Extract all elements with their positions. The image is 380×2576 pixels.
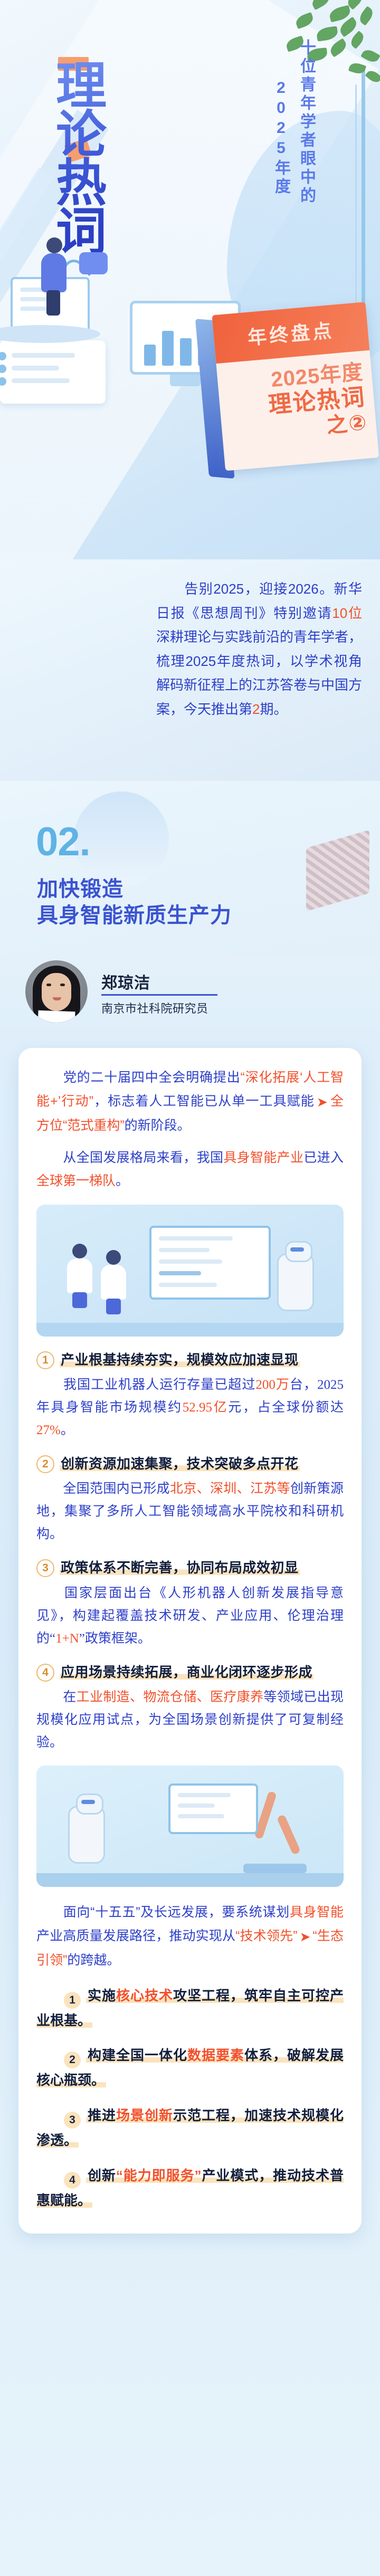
calendar-main: 2025年度 理论热词 之② <box>216 350 377 448</box>
illustration-scene-2 <box>36 1766 344 1887</box>
scene-person-2 <box>99 1250 128 1313</box>
avatar <box>25 960 88 1023</box>
illustration-person <box>37 237 71 317</box>
intro-highlight-2: 2 <box>252 701 260 717</box>
hero-title-char-2: 论 <box>56 111 156 159</box>
item-body-hl-3: 27% <box>36 1423 61 1437</box>
illustration-monitor-stand <box>170 375 201 386</box>
section-title-line-2: 具身智能新质生产力 <box>37 898 232 929</box>
item-body-c: 元，占全球份额达 <box>228 1400 344 1415</box>
item-number: 4 <box>36 1664 54 1682</box>
outlook-hl-2: “技术领先” <box>235 1929 297 1943</box>
body-p2-highlight-2: 全球第一梯队 <box>36 1173 116 1188</box>
item-title: 应用场景持续拓展，商业化闭环逐步形成 <box>60 1664 313 1680</box>
author-block: 郑琼洁 南京市社科院研究员 <box>0 955 380 1034</box>
intro-paragraph: 告别2025，迎接2026。新华日报《思想周刊》特别邀请10位深耕理论与实践前沿… <box>156 577 362 721</box>
list-item: 1 产业根基持续夯实，规模效应加速显现 <box>36 1350 344 1369</box>
hero-vertical-year: 2025年度 <box>269 79 292 196</box>
item-body-hl-1: 北京、深圳、江苏等 <box>170 1482 290 1496</box>
arrow-right-icon: ➤ <box>317 1091 328 1114</box>
intro-section: 告别2025，迎接2026。新华日报《思想周刊》特别邀请10位深耕理论与实践前沿… <box>0 559 380 781</box>
scene-person-1 <box>65 1244 94 1307</box>
item-body-hl-1: 200万 <box>255 1378 290 1392</box>
body-paragraph-1: 党的二十届四中全会明确提出“深化拓展‘人工智能+’行动”，标志着人工智能已从单一… <box>36 1066 344 1138</box>
hero-banner: 理 论 热 词 十位青年学者眼中的 2025年度 <box>0 0 380 559</box>
content-section: 党的二十届四中全会明确提出“深化拓展‘人工智能+’行动”，标志着人工智能已从单一… <box>0 1034 380 2564</box>
scene-robot-1 <box>277 1253 314 1311</box>
item-body-a: 我国工业机器人运行存量已超过 <box>63 1378 255 1392</box>
outlook-hl-1: 具身智能 <box>290 1905 344 1920</box>
list-item: 4 应用场景持续拓展，商业化闭环逐步形成 <box>36 1663 344 1682</box>
illustration-scene-1 <box>36 1205 344 1337</box>
step-item: 4创新“能力即服务”产业模式，推动技术普惠赋能。 <box>36 2164 344 2212</box>
step-text-b: 示范工程，加速技术规模化渗透。 <box>36 2107 344 2148</box>
item-title: 创新资源加速集聚，技术突破多点开花 <box>60 1456 300 1472</box>
content-card: 党的二十届四中全会明确提出“深化拓展‘人工智能+’行动”，标志着人工智能已从单一… <box>18 1048 362 2234</box>
intro-lead: 告别2025，迎接2026。新华日报《思想周刊》特别邀请 <box>156 581 362 621</box>
item-body: 全国范围内已形成北京、深圳、江苏等创新策源地，集聚了多所人工智能领域高水平院校和… <box>36 1477 344 1545</box>
item-body: 国家层面出台《人形机器人创新发展指导意见》，构建起覆盖技术研发、产业应用、伦理治… <box>36 1582 344 1650</box>
step-number: 2 <box>64 2052 81 2068</box>
step-item: 2构建全国一体化数据要素体系，破解发展核心瓶颈。 <box>36 2044 344 2092</box>
step-text-a: 构建全国一体化 <box>87 2047 187 2063</box>
body-p2-c: 。 <box>116 1173 129 1188</box>
item-title: 产业根基持续夯实，规模效应加速显现 <box>60 1352 300 1368</box>
step-text-a: 创新 <box>87 2168 116 2183</box>
item-body-hl-2: 52.95亿 <box>183 1400 229 1415</box>
author-name: 郑琼洁 <box>101 970 150 993</box>
item-body-hl-1: 工业制造、物流仓储、医疗康养 <box>77 1690 264 1704</box>
arrow-right-icon: ➤ <box>299 1925 310 1949</box>
scene-screen <box>149 1226 271 1300</box>
item-body-b: ”政策框架。 <box>79 1632 151 1646</box>
calendar-card: 年终盘点 2025年度 理论热词 之② <box>203 302 379 474</box>
intro-highlight-1: 10位 <box>332 605 362 621</box>
body-p1-c: 的新阶段。 <box>125 1118 191 1133</box>
item-body-d: 。 <box>61 1423 74 1437</box>
body-p1-b: ，标志着人工智能已从单一工具赋能 <box>93 1094 315 1109</box>
body-p1-a: 党的二十届四中全会明确提出 <box>63 1070 241 1085</box>
list-item: 3 政策体系不断完善，协同布局成效初显 <box>36 1558 344 1577</box>
step-text-b: 攻坚工程，筑牢自主可控产业根基。 <box>36 1988 344 2028</box>
outlook-paragraph: 面向“十五五”及长远发展，要系统谋划具身智能产业高质量发展路径，推动实现从“技术… <box>36 1901 344 1972</box>
outlook-a: 面向“十五五”及长远发展，要系统谋划 <box>63 1905 290 1920</box>
author-role: 南京市社科院研究员 <box>101 999 208 1016</box>
step-highlight: “能力即服务” <box>116 2168 202 2183</box>
item-body-hl-1: 1+N <box>55 1632 79 1646</box>
item-title: 政策体系不断完善，协同布局成效初显 <box>60 1560 300 1576</box>
item-body: 在工业制造、物流仓储、医疗康养等领域已出现规模化应用试点，为全国场景创新提供了可… <box>36 1686 344 1754</box>
step-text-a: 实施 <box>87 1988 116 2003</box>
step-item: 3推进场景创新示范工程，加速技术规模化渗透。 <box>36 2104 344 2152</box>
body-p2-b: 已进入 <box>303 1150 344 1165</box>
scene-robot-2 <box>68 1806 105 1864</box>
step-text-a: 推进 <box>87 2107 116 2123</box>
footer: 新华日报 交汇点新闻 中国江苏网 江苏新时空融媒体平台 文案：刘庆传 陈立民 杨… <box>0 2564 380 2576</box>
step-highlight: 数据要素 <box>187 2047 244 2063</box>
section-robot-decoration <box>269 818 380 944</box>
intro-tail: 期。 <box>260 701 287 717</box>
body-paragraph-2: 从全国发展格局来看，我国具身智能产业已进入全球第一梯队。 <box>36 1146 344 1193</box>
hero-title: 理 论 热 词 <box>56 62 156 257</box>
scene-panel <box>168 1783 258 1834</box>
body-p2-a: 从全国发展格局来看，我国 <box>63 1150 223 1165</box>
illustration-card <box>0 340 106 404</box>
item-body-a: 全国范围内已形成 <box>63 1482 170 1496</box>
section-number: 02. <box>36 819 90 865</box>
step-highlight: 场景创新 <box>116 2107 173 2123</box>
item-body: 我国工业机器人运行存量已超过200万台，2025年具身智能市场规模约52.95亿… <box>36 1373 344 1442</box>
illustration-speech-bubble-icon <box>79 252 108 274</box>
step-item: 1实施核心技术攻坚工程，筑牢自主可控产业根基。 <box>36 1984 344 2033</box>
section-header: 02. 加快锻造 具身智能新质生产力 <box>0 781 380 955</box>
item-number: 2 <box>36 1455 54 1473</box>
hero-title-char-1: 理 <box>56 62 156 111</box>
calendar-badge-label: 年终盘点 <box>246 316 335 350</box>
author-divider <box>101 994 217 996</box>
body-p2-highlight-1: 具身智能产业 <box>223 1150 303 1165</box>
calendar-body: 年终盘点 2025年度 理论热词 之② <box>212 302 379 471</box>
list-item: 2 创新资源加速集聚，技术突破多点开花 <box>36 1454 344 1473</box>
outlook-c: 的跨越。 <box>67 1953 120 1968</box>
step-number: 3 <box>64 2112 81 2129</box>
item-body-a: 在 <box>63 1690 77 1704</box>
step-number: 4 <box>64 2172 81 2189</box>
step-highlight: 核心技术 <box>116 1988 173 2003</box>
hero-vertical-subtitle: 十位青年学者眼中的 <box>294 39 318 205</box>
poster-page: 理 论 热 词 十位青年学者眼中的 2025年度 <box>0 0 380 2576</box>
item-number: 3 <box>36 1559 54 1577</box>
item-number: 1 <box>36 1351 54 1369</box>
hero-title-char-3: 热 <box>56 159 156 208</box>
step-number: 1 <box>64 1992 81 2009</box>
outlook-b: 产业高质量发展路径，推动实现从 <box>36 1929 235 1943</box>
